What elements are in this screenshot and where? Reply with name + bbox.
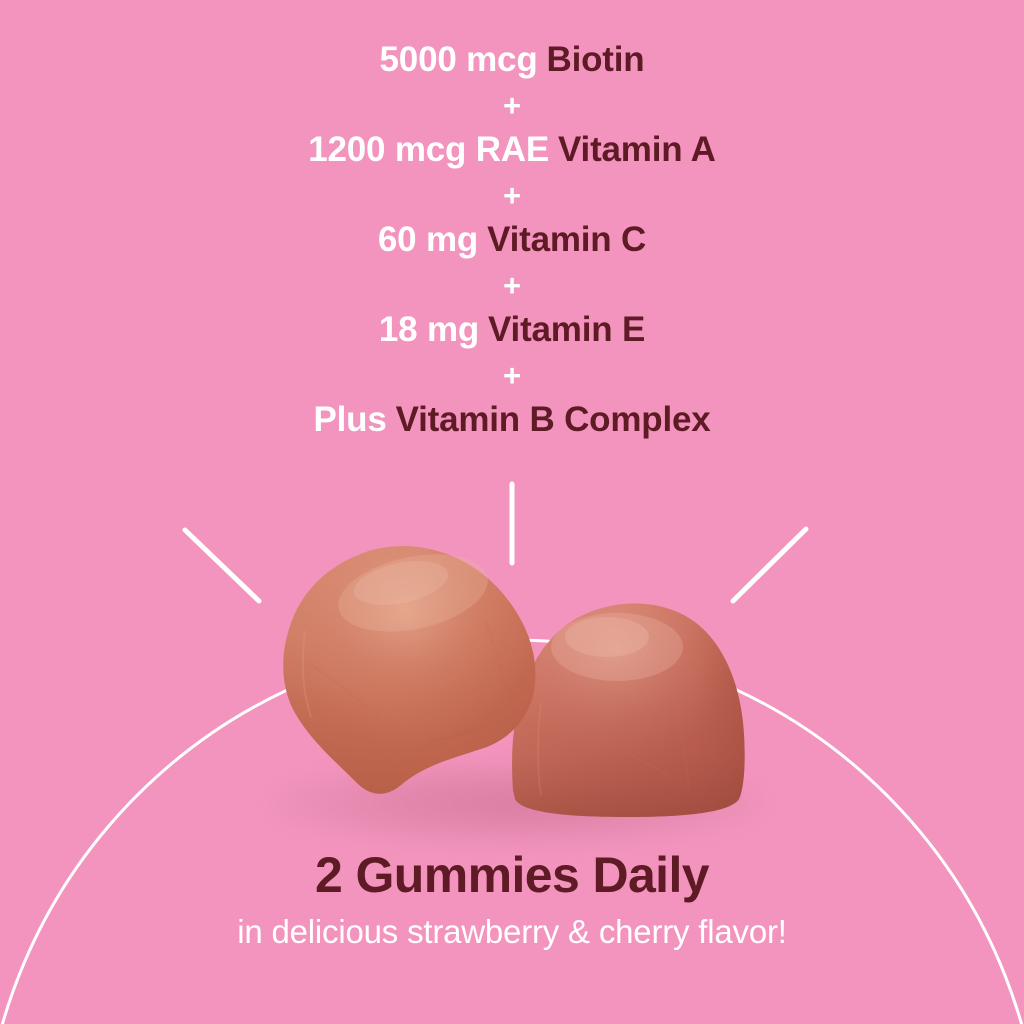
ingredient-name: Vitamin E xyxy=(488,312,645,348)
plus-icon: + xyxy=(503,270,521,301)
ingredient-amount: 60 mg xyxy=(378,222,478,258)
ingredient-name: Vitamin A xyxy=(558,132,716,168)
gummy-shadow xyxy=(272,760,762,846)
ingredient-row-biotin: 5000 mcg Biotin xyxy=(0,34,1024,86)
ingredient-separator-3: + xyxy=(0,266,1024,304)
product-arc xyxy=(0,640,1024,1024)
ingredient-amount: Plus xyxy=(313,402,386,438)
ingredient-separator-2: + xyxy=(0,176,1024,214)
gummy-left xyxy=(275,535,555,810)
bottom-copy: 2 Gummies Daily in delicious strawberry … xyxy=(0,848,1024,951)
ingredient-separator-4: + xyxy=(0,356,1024,394)
plus-icon: + xyxy=(503,90,521,121)
plus-icon: + xyxy=(503,180,521,211)
ingredient-name: Vitamin C xyxy=(487,222,646,258)
ingredient-name: Vitamin B Complex xyxy=(396,402,711,438)
product-infographic: 5000 mcg Biotin + 1200 mcg RAE Vitamin A… xyxy=(0,0,1024,1024)
ray-right-diagonal-icon xyxy=(733,529,806,601)
ingredient-row-vitamin-b-complex: Plus Vitamin B Complex xyxy=(0,394,1024,446)
ingredient-separator-1: + xyxy=(0,86,1024,124)
gummy-right xyxy=(495,585,760,825)
ray-left-diagonal-icon xyxy=(185,530,259,601)
headline-dosage: 2 Gummies Daily xyxy=(0,848,1024,903)
plus-icon: + xyxy=(503,360,521,391)
subline-flavor: in delicious strawberry & cherry flavor! xyxy=(0,913,1024,951)
ingredient-amount: 18 mg xyxy=(379,312,479,348)
ingredient-amount: 1200 mcg RAE xyxy=(308,132,549,168)
ingredient-amount: 5000 mcg xyxy=(380,42,538,78)
ingredient-row-vitamin-e: 18 mg Vitamin E xyxy=(0,304,1024,356)
ingredient-name: Biotin xyxy=(547,42,645,78)
ingredient-row-vitamin-a: 1200 mcg RAE Vitamin A xyxy=(0,124,1024,176)
ingredient-row-vitamin-c: 60 mg Vitamin C xyxy=(0,214,1024,266)
ingredient-list: 5000 mcg Biotin + 1200 mcg RAE Vitamin A… xyxy=(0,34,1024,446)
